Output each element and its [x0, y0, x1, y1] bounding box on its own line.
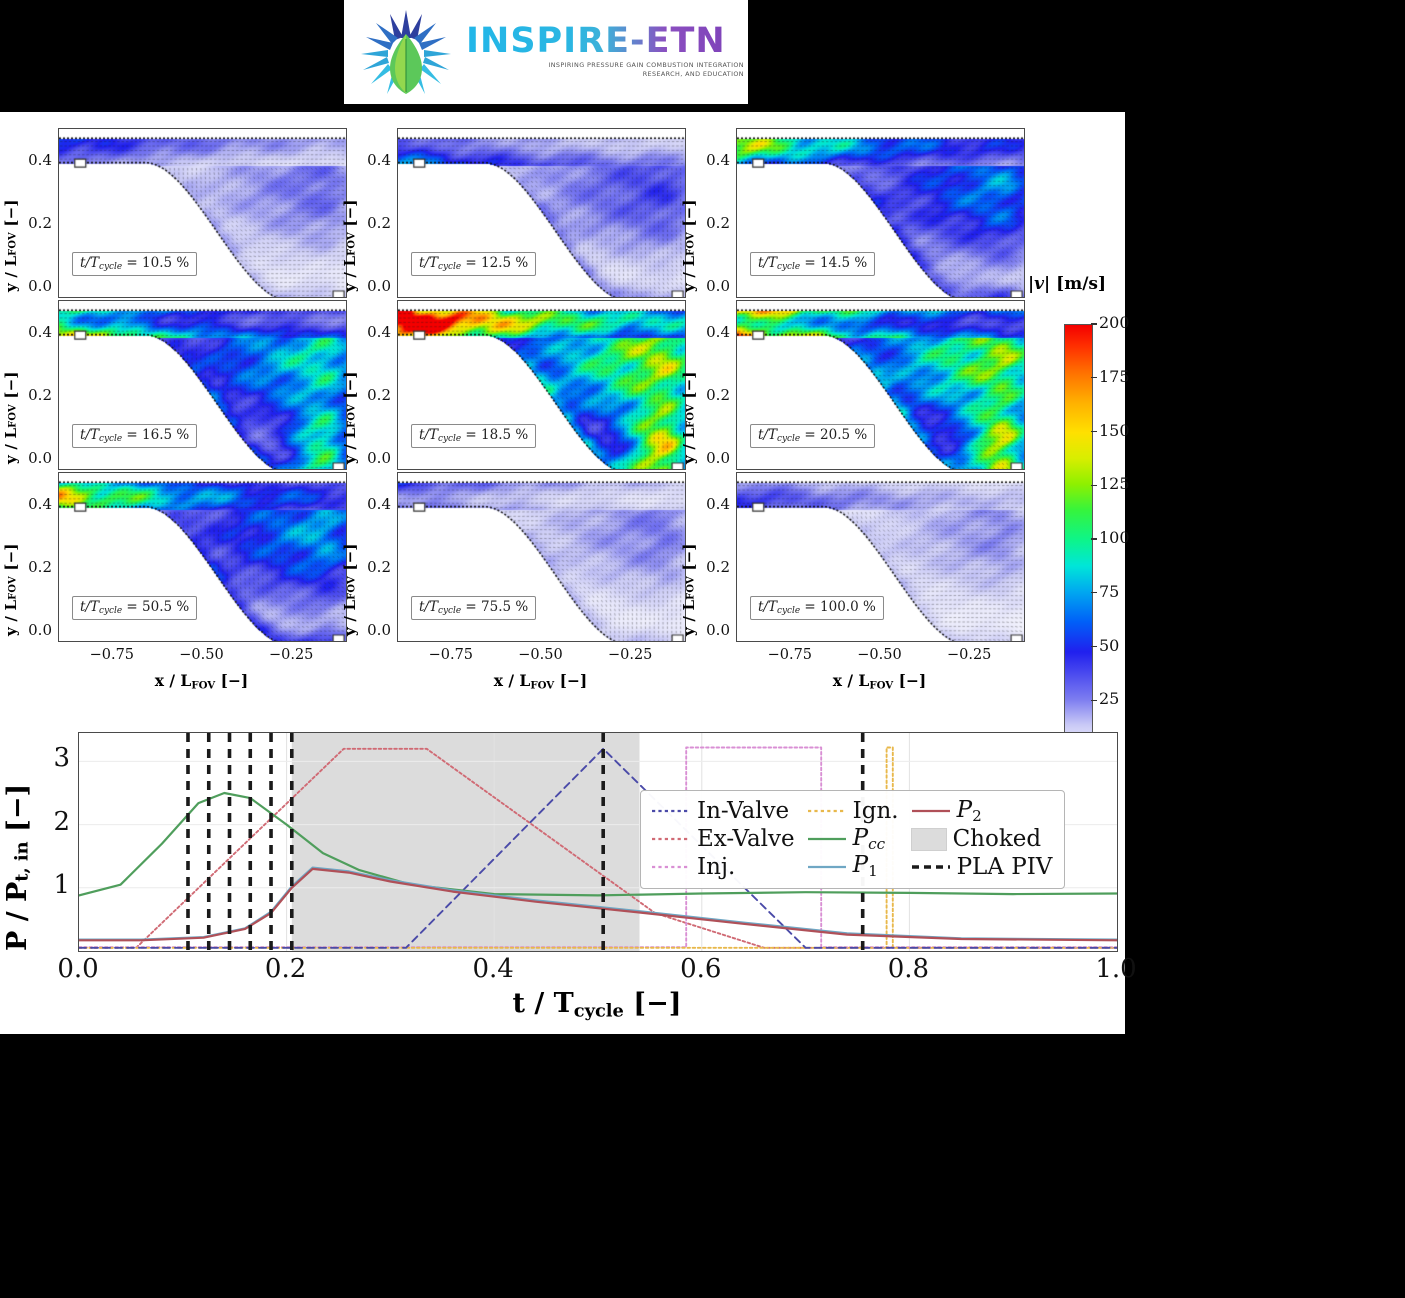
piv-time-label: t/Tcycle = 14.5 % [750, 252, 875, 276]
piv-ytick: 0.2 [357, 214, 391, 232]
piv-ytick: 0.4 [18, 323, 52, 341]
piv-ytick: 0.0 [696, 277, 730, 295]
legend-item: Choked [911, 827, 1053, 851]
legend-label: P2 [957, 798, 982, 825]
colorbar-tick-mark [1091, 323, 1097, 324]
legend-label: In-Valve [697, 799, 789, 823]
piv-ytick: 0.0 [18, 449, 52, 467]
legend-item: In-Valve [651, 799, 795, 823]
piv-xlabel: x / LFOV [−] [58, 671, 345, 692]
colorbar-tick-label: 75 [1099, 582, 1119, 601]
piv-xtick: −0.25 [590, 647, 670, 663]
legend-label: Ex-Valve [697, 827, 795, 851]
logo-mark-icon [354, 4, 458, 100]
legend-swatch-line [911, 861, 951, 873]
legend-swatch-line [807, 861, 847, 873]
pressure-time-plot: P / Pt, in [−] 123 0.00.20.40.60.81.0 t … [0, 724, 1125, 1034]
timeplot-xtick: 0.2 [226, 954, 346, 984]
timeplot-xlabel: t / Tcycle [−] [78, 988, 1116, 1021]
piv-time-label: t/Tcycle = 100.0 % [750, 596, 884, 620]
piv-ytick: 0.0 [696, 621, 730, 639]
piv-ytick: 0.0 [18, 277, 52, 295]
timeplot-xtick: 0.0 [18, 954, 138, 984]
inspire-etn-logo: INSPIRE-ETN INSPIRING PRESSURE GAIN COMB… [344, 0, 748, 104]
colorbar-tick-mark [1091, 377, 1097, 378]
piv-ytick: 0.0 [696, 449, 730, 467]
legend-swatch-line [651, 833, 691, 845]
colorbar-tick-label: 50 [1099, 636, 1119, 655]
piv-ytick: 0.2 [18, 558, 52, 576]
legend-item: Inj. [651, 855, 795, 879]
colorbar-tick-mark [1091, 431, 1097, 432]
legend-item: Ex-Valve [651, 827, 795, 851]
choked-region [292, 733, 640, 951]
piv-xtick: −0.50 [840, 647, 920, 663]
legend-item: P1 [807, 853, 899, 880]
logo-tagline: INSPIRING PRESSURE GAIN COMBUSTION INTEG… [466, 61, 744, 80]
legend-item: P2 [911, 798, 1053, 825]
piv-panel-grid: y / LFOV [−]0.00.20.4t/Tcycle = 10.5 %y … [0, 112, 1035, 712]
legend-label: Pcc [853, 826, 885, 853]
timeplot-xtick: 0.8 [848, 954, 968, 984]
logo-wordmark: INSPIRE-ETN [466, 24, 744, 59]
piv-xtick: −0.75 [72, 647, 152, 663]
colorbar-tick-label: 100 [1099, 528, 1130, 547]
legend-label: PLA PIV [957, 855, 1053, 879]
piv-ytick: 0.2 [696, 386, 730, 404]
timeplot-legend: In-ValveIgn.P2Ex-ValvePccChokedInj.P1PLA… [640, 790, 1065, 889]
piv-xtick: −0.25 [929, 647, 1009, 663]
legend-label: Choked [953, 827, 1042, 851]
legend-label: P1 [853, 853, 878, 880]
piv-ytick: 0.2 [357, 386, 391, 404]
piv-ytick: 0.2 [696, 558, 730, 576]
legend-swatch-line [807, 805, 847, 817]
piv-time-label: t/Tcycle = 20.5 % [750, 424, 875, 448]
logo-tagline-line1: INSPIRING PRESSURE GAIN COMBUSTION INTEG… [466, 61, 744, 70]
colorbar-tick-label: 175 [1099, 367, 1130, 386]
piv-ytick: 0.4 [18, 151, 52, 169]
piv-ytick: 0.4 [357, 495, 391, 513]
velocity-colorbar [1064, 324, 1093, 756]
piv-time-label: t/Tcycle = 18.5 % [411, 424, 536, 448]
piv-time-label: t/Tcycle = 10.5 % [72, 252, 197, 276]
legend-item: Pcc [807, 826, 899, 853]
piv-ytick: 0.4 [357, 323, 391, 341]
piv-xtick: −0.50 [162, 647, 242, 663]
piv-xlabel: x / LFOV [−] [397, 671, 684, 692]
legend-item: Ign. [807, 799, 899, 823]
piv-xtick: −0.75 [411, 647, 491, 663]
timeplot-xtick: 1.0 [1056, 954, 1176, 984]
piv-xlabel: x / LFOV [−] [736, 671, 1023, 692]
piv-ytick: 0.0 [357, 277, 391, 295]
legend-swatch-line [651, 805, 691, 817]
piv-xtick: −0.75 [750, 647, 830, 663]
legend-label: Ign. [853, 799, 899, 823]
colorbar-gradient [1065, 325, 1092, 755]
figure-canvas: y / LFOV [−]0.00.20.4t/Tcycle = 10.5 %y … [0, 112, 1125, 1034]
timeplot-xtick: 0.4 [433, 954, 553, 984]
figure-root: INSPIRE-ETN INSPIRING PRESSURE GAIN COMB… [0, 0, 1405, 1298]
colorbar-tick-mark [1091, 646, 1097, 647]
legend-swatch-line [807, 833, 847, 845]
piv-ytick: 0.4 [357, 151, 391, 169]
piv-ytick: 0.4 [696, 151, 730, 169]
piv-ytick: 0.0 [357, 621, 391, 639]
piv-ytick: 0.2 [18, 214, 52, 232]
piv-ytick: 0.4 [696, 495, 730, 513]
piv-ytick: 0.0 [357, 449, 391, 467]
timeplot-xtick: 0.6 [641, 954, 761, 984]
legend-item: PLA PIV [911, 855, 1053, 879]
legend-swatch-patch [911, 828, 947, 851]
colorbar-tick-label: 200 [1099, 313, 1130, 332]
timeplot-ytick: 1 [20, 870, 70, 900]
colorbar-tick-mark [1091, 700, 1097, 701]
colorbar-tick-label: 25 [1099, 689, 1119, 708]
timeplot-ytick: 3 [20, 743, 70, 773]
piv-xtick: −0.25 [251, 647, 331, 663]
piv-time-label: t/Tcycle = 12.5 % [411, 252, 536, 276]
piv-ytick: 0.4 [696, 323, 730, 341]
piv-time-label: t/Tcycle = 50.5 % [72, 596, 197, 620]
piv-ytick: 0.2 [357, 558, 391, 576]
colorbar-title: |v| [m/s] [1028, 274, 1106, 294]
timeplot-ytick: 2 [20, 807, 70, 837]
legend-label: Inj. [697, 855, 735, 879]
logo-tagline-line2: RESEARCH, AND EDUCATION [466, 70, 744, 79]
colorbar-tick-label: 125 [1099, 474, 1130, 493]
colorbar-tick-mark [1091, 592, 1097, 593]
piv-ytick: 0.2 [18, 386, 52, 404]
piv-ytick: 0.0 [18, 621, 52, 639]
legend-swatch-line [911, 805, 951, 817]
colorbar-tick-mark [1091, 538, 1097, 539]
piv-ytick: 0.2 [696, 214, 730, 232]
piv-time-label: t/Tcycle = 16.5 % [72, 424, 197, 448]
piv-ytick: 0.4 [18, 495, 52, 513]
piv-xtick: −0.50 [501, 647, 581, 663]
colorbar-tick-label: 150 [1099, 421, 1130, 440]
colorbar-tick-mark [1091, 485, 1097, 486]
legend-swatch-line [651, 861, 691, 873]
piv-time-label: t/Tcycle = 75.5 % [411, 596, 536, 620]
